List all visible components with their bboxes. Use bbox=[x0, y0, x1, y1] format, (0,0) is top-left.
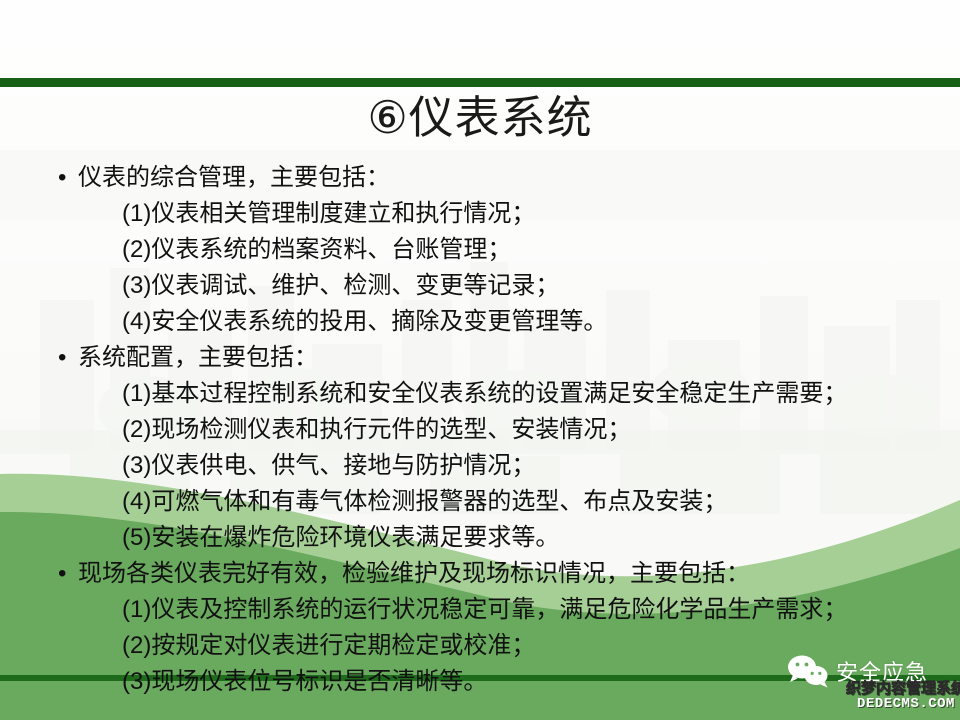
list-item: (4)可燃气体和有毒气体检测报警器的选型、布点及安装； bbox=[0, 484, 960, 520]
section-heading: • 仪表的综合管理，主要包括： bbox=[0, 160, 960, 196]
bullet-icon: • bbox=[58, 160, 66, 196]
list-item: (5)安装在爆炸危险环境仪表满足要求等。 bbox=[0, 520, 960, 556]
section-heading: • 系统配置，主要包括： bbox=[0, 340, 960, 376]
section-heading-text: 系统配置，主要包括： bbox=[78, 344, 318, 371]
wechat-icon bbox=[786, 653, 830, 689]
list-item: (2)现场检测仪表和执行元件的选型、安装情况； bbox=[0, 412, 960, 448]
bullet-icon: • bbox=[58, 340, 66, 376]
list-item: (2)仪表系统的档案资料、台账管理； bbox=[0, 232, 960, 268]
slide-canvas: ⑥仪表系统 • 仪表的综合管理，主要包括： (1)仪表相关管理制度建立和执行情况… bbox=[0, 0, 960, 720]
dedecms-watermark: 织梦内容管理系统 DEDECMS.COM bbox=[846, 681, 960, 711]
content-section: • 仪表的综合管理，主要包括： (1)仪表相关管理制度建立和执行情况； (2)仪… bbox=[0, 160, 960, 340]
top-divider-rule bbox=[0, 78, 960, 87]
list-item: (3)仪表调试、维护、检测、变更等记录； bbox=[0, 268, 960, 304]
list-item: (1)仪表相关管理制度建立和执行情况； bbox=[0, 196, 960, 232]
list-item: (3)仪表供电、供气、接地与防护情况； bbox=[0, 448, 960, 484]
content-section: • 系统配置，主要包括： (1)基本过程控制系统和安全仪表系统的设置满足安全稳定… bbox=[0, 340, 960, 556]
section-heading: • 现场各类仪表完好有效，检验维护及现场标识情况，主要包括： bbox=[0, 556, 960, 592]
section-heading-text: 仪表的综合管理，主要包括： bbox=[78, 164, 390, 191]
list-item: (4)安全仪表系统的投用、摘除及变更管理等。 bbox=[0, 304, 960, 340]
bullet-icon: • bbox=[58, 556, 66, 592]
list-item: (1)基本过程控制系统和安全仪表系统的设置满足安全稳定生产需要； bbox=[0, 376, 960, 412]
dedecms-watermark-cn: 织梦内容管理系统 bbox=[846, 681, 960, 696]
slide-body: • 仪表的综合管理，主要包括： (1)仪表相关管理制度建立和执行情况； (2)仪… bbox=[0, 160, 960, 700]
dedecms-watermark-en: DEDECMS.COM bbox=[846, 697, 960, 711]
section-heading-text: 现场各类仪表完好有效，检验维护及现场标识情况，主要包括： bbox=[78, 560, 750, 587]
page-title: ⑥仪表系统 bbox=[0, 92, 960, 144]
list-item: (1)仪表及控制系统的运行状况稳定可靠，满足危险化学品生产需求； bbox=[0, 592, 960, 628]
